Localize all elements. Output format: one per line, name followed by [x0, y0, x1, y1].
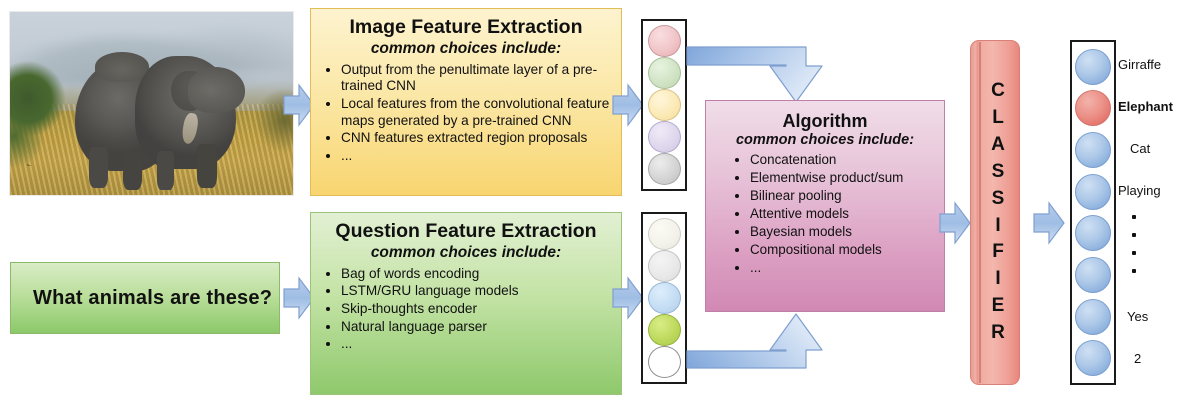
output-cell — [1075, 174, 1111, 210]
list-item: ... — [341, 336, 613, 353]
image-feature-extraction-box: Image Feature Extraction common choices … — [310, 8, 622, 196]
arrow-image-vector-to-algorithm — [686, 44, 836, 106]
elephant-right-leg-2 — [197, 144, 217, 188]
output-cell — [1075, 132, 1111, 168]
list-item: Skip-thoughts encoder — [341, 301, 613, 318]
question-feature-vector — [641, 212, 687, 384]
list-item: Bag of words encoding — [341, 266, 613, 283]
arrow-classifier-to-output — [1033, 200, 1065, 246]
question-feature-extraction-box: Question Feature Extraction common choic… — [310, 212, 622, 395]
image-feature-vector — [641, 19, 687, 191]
list-item: ... — [341, 148, 613, 165]
list-item: Output from the penultimate layer of a p… — [341, 62, 613, 95]
output-cell-highlighted — [1075, 90, 1111, 126]
algorithm-box: Algorithm common choices include: Concat… — [705, 100, 945, 312]
output-cell — [1075, 299, 1111, 335]
vertical-ellipsis-icon — [1132, 215, 1136, 273]
vector-cell — [648, 89, 681, 121]
output-cell — [1075, 340, 1111, 376]
output-cell — [1075, 257, 1111, 293]
list-item: Compositional models — [750, 242, 936, 259]
classifier-letter: L — [992, 105, 1004, 132]
elephant-left-leg-1 — [89, 147, 107, 187]
classifier-letter: A — [991, 132, 1005, 159]
elephant-right-head — [188, 67, 245, 113]
classifier-letter: C — [991, 78, 1005, 105]
classifier-letter: I — [995, 213, 1000, 240]
output-cell — [1075, 215, 1111, 251]
elephant-right-leg-1 — [157, 151, 174, 189]
vector-cell — [648, 25, 681, 57]
vector-cell — [648, 121, 681, 153]
algorithm-subheading: common choices include: — [706, 132, 944, 148]
vector-cell — [648, 250, 681, 282]
list-item: Attentive models — [750, 206, 936, 223]
output-label-two: 2 — [1134, 351, 1141, 366]
vector-cell — [648, 282, 681, 314]
output-label-cat: Cat — [1130, 141, 1150, 156]
list-item: Natural language parser — [341, 319, 613, 336]
classifier-bevel-stripe — [979, 42, 981, 383]
classifier-letter: S — [992, 186, 1005, 213]
elephant-left-head — [95, 52, 149, 81]
image-feature-heading: Image Feature Extraction — [311, 17, 621, 39]
output-label-girraffe: Girraffe — [1118, 57, 1161, 72]
input-question-text: What animals are these? — [11, 287, 272, 310]
question-feature-list: Bag of words encoding LSTM/GRU language … — [311, 266, 621, 353]
classifier-letter: E — [992, 293, 1005, 320]
vector-cell — [648, 346, 681, 378]
vector-cell — [648, 218, 681, 250]
list-item: Concatenation — [750, 152, 936, 169]
classifier-box: C L A S S I F I E R — [970, 40, 1020, 385]
vector-cell — [648, 57, 681, 89]
arrow-image-features-to-vector — [612, 82, 644, 128]
vector-cell — [648, 153, 681, 185]
input-question-box: What animals are these? — [10, 262, 280, 334]
list-item: ... — [750, 260, 936, 277]
classifier-letter: I — [995, 266, 1000, 293]
classifier-letter: R — [991, 320, 1005, 347]
input-image-photo — [10, 12, 293, 195]
output-answer-labels: Girraffe Elephant Cat Playing Yes 2 — [1118, 40, 1179, 385]
list-item: Bayesian models — [750, 224, 936, 241]
list-item: Elementwise product/sum — [750, 170, 936, 187]
list-item: CNN features extracted region proposals — [341, 130, 613, 147]
classifier-letter: S — [992, 159, 1005, 186]
arrow-algorithm-to-classifier — [939, 200, 971, 246]
algorithm-list: Concatenation Elementwise product/sum Bi… — [706, 152, 944, 276]
list-item: Bilinear pooling — [750, 188, 936, 205]
arrow-question-vector-to-algorithm — [686, 310, 836, 372]
question-feature-heading: Question Feature Extraction — [311, 221, 621, 243]
output-label-playing: Playing — [1118, 183, 1161, 198]
list-item: Local features from the convolutional fe… — [341, 96, 613, 129]
output-answer-vector — [1070, 40, 1116, 385]
image-feature-list: Output from the penultimate layer of a p… — [311, 62, 621, 164]
output-cell — [1075, 49, 1111, 85]
image-feature-subheading: common choices include: — [311, 40, 621, 58]
arrow-question-features-to-vector — [612, 275, 644, 321]
list-item: LSTM/GRU language models — [341, 283, 613, 300]
output-label-yes: Yes — [1127, 309, 1148, 324]
classifier-label: C L A S S I F I E R — [991, 78, 1005, 348]
output-label-elephant: Elephant — [1118, 99, 1173, 114]
elephant-left-leg-2 — [123, 151, 141, 189]
classifier-letter: F — [992, 239, 1004, 266]
question-feature-subheading: common choices include: — [311, 244, 621, 262]
vector-cell — [648, 314, 681, 346]
algorithm-heading: Algorithm — [706, 111, 944, 131]
